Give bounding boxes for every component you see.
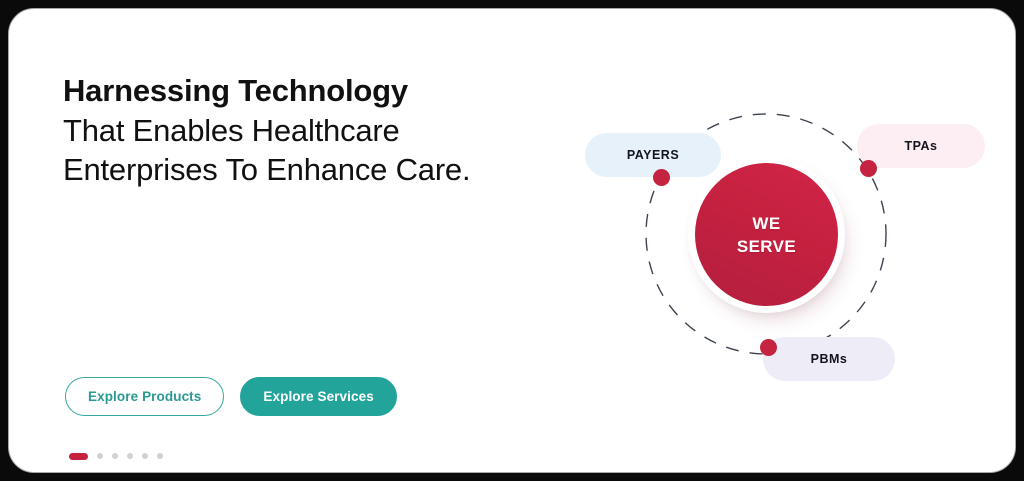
pagination-dot-2[interactable]	[97, 453, 103, 459]
pagination-dot-1[interactable]	[69, 453, 88, 460]
orbit-node-tpas-label: TPAs	[904, 139, 937, 153]
pagination-dot-4[interactable]	[127, 453, 133, 459]
we-serve-core: WE SERVE	[695, 163, 838, 306]
orbit-node-pbms-label: PBMs	[811, 352, 848, 366]
page-title: Harnessing TechnologyThat Enables Health…	[63, 71, 493, 190]
carousel-pagination	[69, 453, 163, 460]
core-label-line-1: WE	[752, 212, 780, 235]
hero-copy: Harnessing TechnologyThat Enables Health…	[63, 71, 493, 190]
orbit-node-payers-label: PAYERS	[627, 148, 679, 162]
cta-button-row: Explore Products Explore Services	[65, 377, 397, 416]
headline-rest: That Enables Healthcare Enterprises To E…	[63, 113, 470, 188]
explore-services-button[interactable]: Explore Services	[240, 377, 396, 416]
pagination-dot-6[interactable]	[157, 453, 163, 459]
pagination-dot-5[interactable]	[142, 453, 148, 459]
hero-card: Harnessing TechnologyThat Enables Health…	[8, 8, 1016, 473]
core-label-line-2: SERVE	[737, 235, 796, 258]
headline-lead: Harnessing Technology	[63, 73, 408, 108]
explore-products-button[interactable]: Explore Products	[65, 377, 224, 416]
pagination-dot-3[interactable]	[112, 453, 118, 459]
we-serve-diagram: WE SERVE PAYERS TPAs PBMs	[569, 79, 999, 409]
orbit-node-pbms[interactable]: PBMs	[763, 337, 895, 381]
orbit-node-payers[interactable]: PAYERS	[585, 133, 721, 177]
orbit-anchor-dot-payers	[653, 169, 670, 186]
orbit-anchor-dot-tpas	[860, 160, 877, 177]
orbit-node-tpas[interactable]: TPAs	[857, 124, 985, 168]
screenshot-viewport: Harnessing TechnologyThat Enables Health…	[0, 0, 1024, 481]
orbit-anchor-dot-pbms	[760, 339, 777, 356]
